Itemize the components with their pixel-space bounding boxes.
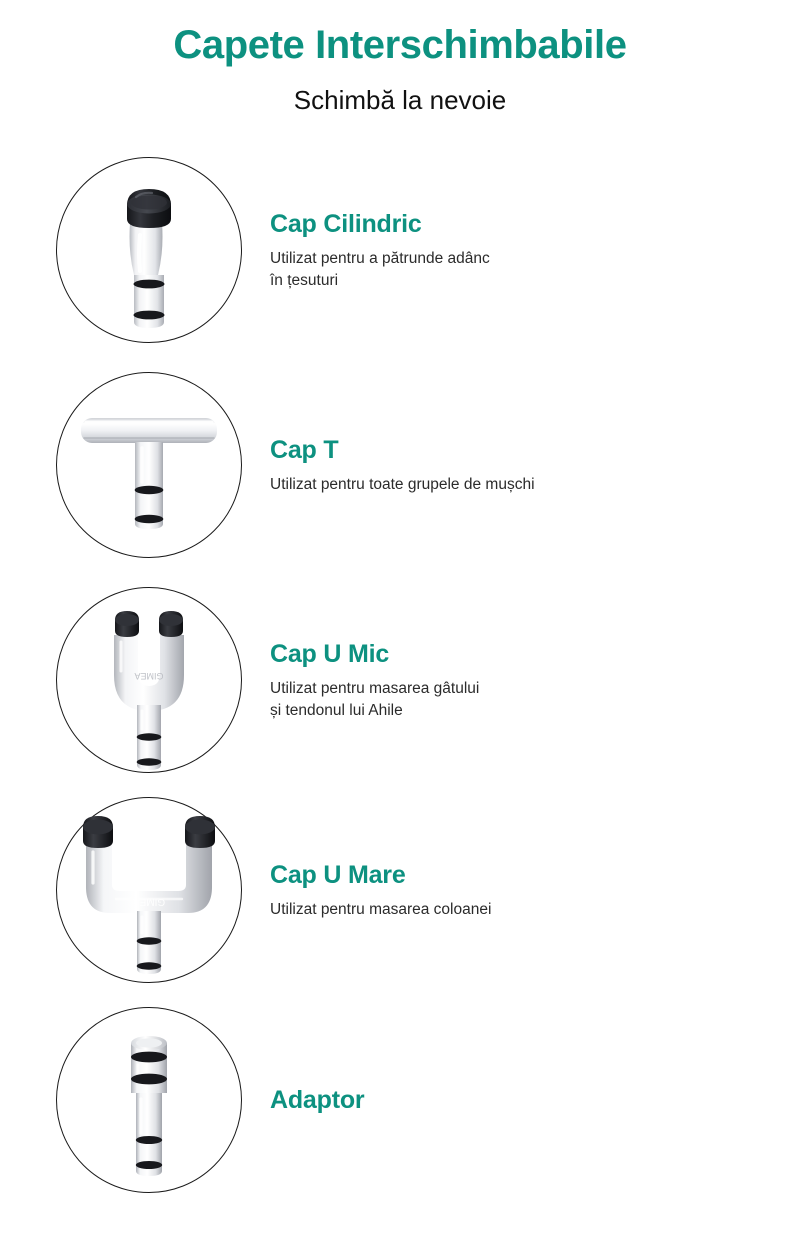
item-title: Cap Cilindric bbox=[270, 209, 780, 239]
item-title: Cap U Mic bbox=[270, 639, 780, 669]
cap-u-mare-text: Cap U Mare Utilizat pentru masarea coloa… bbox=[270, 860, 800, 921]
list-item: Adaptor bbox=[0, 1000, 800, 1200]
item-description: Utilizat pentru masarea gâtului și tendo… bbox=[270, 678, 780, 722]
cylindrical-head-icon bbox=[56, 157, 242, 343]
item-title: Adaptor bbox=[270, 1085, 780, 1115]
cap-t-text: Cap T Utilizat pentru toate grupele de m… bbox=[270, 435, 800, 496]
item-title: Cap T bbox=[270, 435, 780, 465]
list-item: GIMEA Cap U Mare Utilizat pentru masarea… bbox=[0, 790, 800, 990]
cap-t-image-circle bbox=[56, 372, 242, 558]
list-item: Cap T Utilizat pentru toate grupele de m… bbox=[0, 365, 800, 565]
cap-u-mare-image-circle: GIMEA bbox=[56, 797, 242, 983]
adapter-head-icon bbox=[56, 1007, 242, 1193]
item-title: Cap U Mare bbox=[270, 860, 780, 890]
infographic-page: Capete Interschimbabile Schimbă la nevoi… bbox=[0, 0, 800, 1234]
item-description: Utilizat pentru a pătrunde adânc în țesu… bbox=[270, 248, 780, 292]
cap-u-mic-text: Cap U Mic Utilizat pentru masarea gâtulu… bbox=[270, 639, 800, 722]
svg-text:GIMEA: GIMEA bbox=[134, 671, 163, 681]
list-item: GIMEA Cap U Mic Utilizat pentru masarea … bbox=[0, 580, 800, 780]
cap-cilindric-image-circle bbox=[56, 157, 242, 343]
cap-u-mic-image-circle: GIMEA bbox=[56, 587, 242, 773]
t-head-icon bbox=[56, 372, 242, 558]
adaptor-image-circle bbox=[56, 1007, 242, 1193]
cap-cilindric-text: Cap Cilindric Utilizat pentru a pătrunde… bbox=[270, 209, 800, 292]
adaptor-text: Adaptor bbox=[270, 1085, 800, 1115]
item-description: Utilizat pentru toate grupele de mușchi bbox=[270, 474, 780, 496]
svg-text:GIMEA: GIMEA bbox=[133, 896, 166, 907]
list-item: Cap Cilindric Utilizat pentru a pătrunde… bbox=[0, 150, 800, 350]
header: Capete Interschimbabile Schimbă la nevoi… bbox=[0, 0, 800, 116]
large-u-head-icon: GIMEA bbox=[56, 797, 242, 983]
item-description: Utilizat pentru masarea coloanei bbox=[270, 899, 780, 921]
page-subtitle: Schimbă la nevoie bbox=[0, 85, 800, 116]
page-title: Capete Interschimbabile bbox=[0, 22, 800, 68]
small-u-head-icon: GIMEA bbox=[56, 587, 242, 773]
